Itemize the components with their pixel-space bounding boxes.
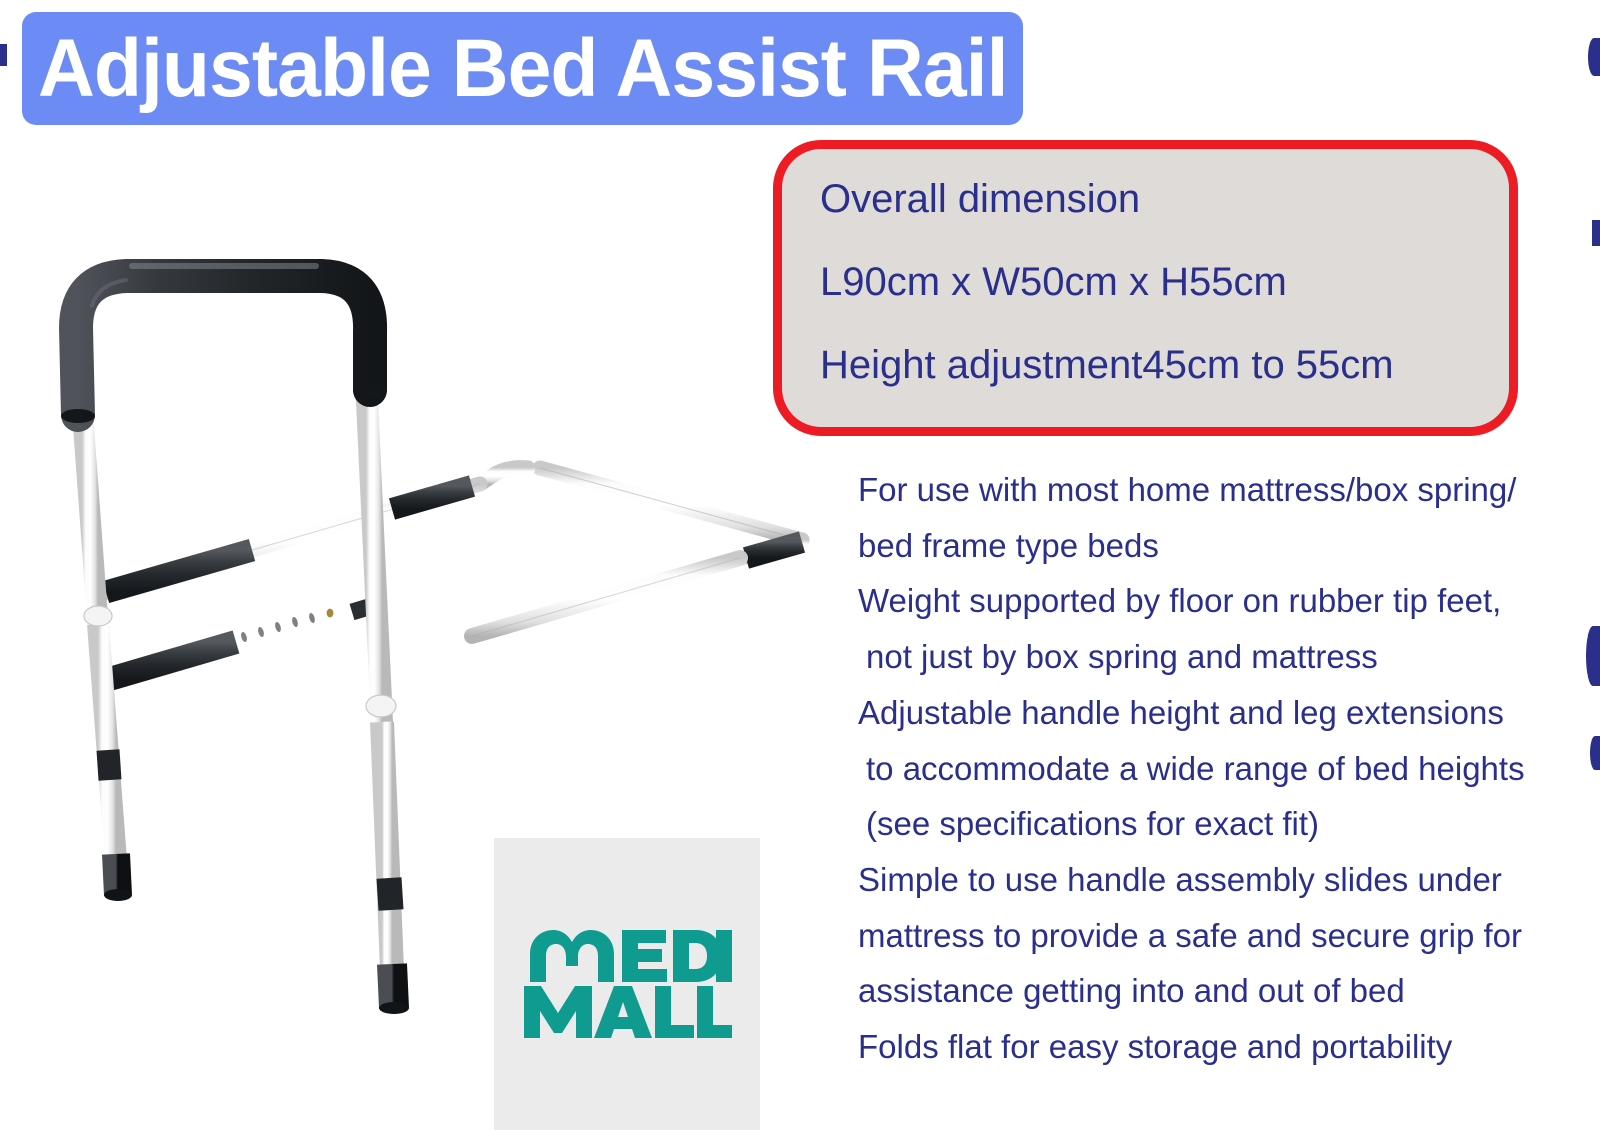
letter-e-glyph (622, 930, 667, 982)
callout-line-height-adjustment: Height adjustment45cm to 55cm (820, 345, 1509, 386)
feature-line: not just by box spring and mattress (858, 629, 1558, 685)
feature-line: assistance getting into and out of bed (858, 963, 1558, 1019)
callout-line-measurements: L90cm x W50cm x H55cm (820, 262, 1509, 303)
leg-collar-rear (366, 695, 396, 717)
letter-m-glyph (524, 986, 592, 1038)
feature-list: For use with most home mattress/box spri… (858, 462, 1558, 1075)
feature-line: bed frame type beds (858, 518, 1558, 574)
feature-line: Folds flat for easy storage and portabil… (858, 1019, 1558, 1075)
left-edge-text-fragment (0, 44, 7, 66)
foam-sleeve-lower-left (106, 550, 252, 592)
right-edge-text-fragment (1586, 626, 1600, 686)
right-edge-text-fragment (1590, 736, 1600, 770)
logo-wordmark (524, 930, 732, 1038)
letter-l1-glyph (655, 986, 694, 1038)
right-edge-text-fragment (1588, 38, 1600, 76)
title-banner: Adjustable Bed Assist Rail (22, 12, 1023, 125)
rear-leg (366, 380, 409, 1014)
feature-line: (see specifications for exact fit) (858, 796, 1558, 852)
base-frame-near-rail (240, 558, 740, 643)
adjustment-knob (327, 609, 334, 618)
right-edge-text-fragment (1592, 220, 1600, 246)
callout-line-overall-dimension: Overall dimension (820, 179, 1509, 220)
rubber-foot-tip-rear (379, 964, 409, 1014)
foam-handle (61, 266, 387, 423)
letter-a-glyph (594, 986, 652, 1038)
leg-band-rear (389, 878, 391, 910)
front-leg (82, 406, 132, 901)
feature-line: Simple to use handle assembly slides und… (858, 852, 1558, 908)
dimension-callout-box: Overall dimension L90cm x W50cm x H55cm … (773, 140, 1518, 436)
foam-sleeve-upper-left (392, 486, 472, 509)
foam-sleeve-right (746, 542, 802, 558)
heart-m-glyph (530, 930, 614, 982)
height-adjustment-holes (240, 612, 316, 642)
handle-end-cap-right (353, 384, 387, 398)
handle-end-cap-left (61, 409, 95, 423)
letter-d-glyph (673, 930, 722, 982)
page-title: Adjustable Bed Assist Rail (38, 28, 1007, 110)
leg-band-front (108, 750, 110, 780)
feature-line: to accommodate a wide range of bed heigh… (858, 741, 1558, 797)
feature-line: mattress to provide a safe and secure gr… (858, 908, 1558, 964)
medi-mall-logo: MEDI MALL (494, 838, 760, 1130)
feature-line: For use with most home mattress/box spri… (858, 462, 1558, 518)
foam-sleeve-near-rail (106, 642, 236, 680)
base-frame-far-rail (480, 468, 802, 540)
letter-i-glyph (716, 930, 732, 982)
feature-line: Adjustable handle height and leg extensi… (858, 685, 1558, 741)
letter-l2-glyph (697, 986, 732, 1038)
feature-line: Weight supported by floor on rubber tip … (858, 573, 1558, 629)
leg-collar-front (84, 606, 112, 626)
rubber-foot-tip-front (104, 854, 132, 901)
product-marketing-image: Adjustable Bed Assist Rail Overall dimen… (0, 0, 1600, 1130)
